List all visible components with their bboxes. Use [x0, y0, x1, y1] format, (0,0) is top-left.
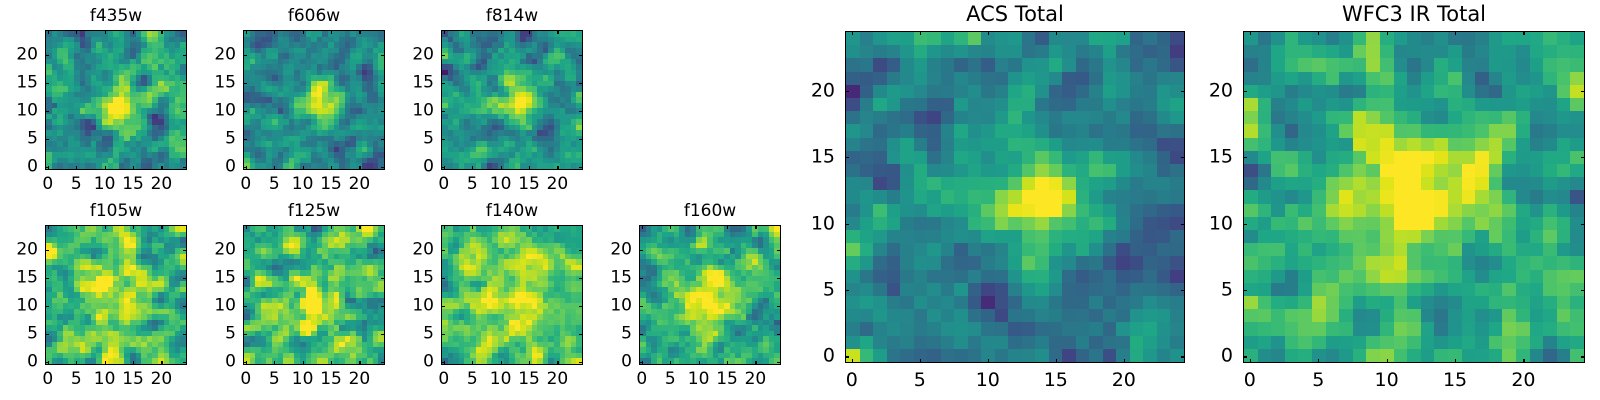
y-tick	[639, 334, 643, 335]
x-tick	[105, 166, 106, 170]
x-tick	[444, 225, 445, 229]
panel-title: f435w	[45, 8, 187, 25]
x-tick-label: 20	[547, 176, 569, 193]
x-tick	[755, 361, 756, 365]
x-tick	[472, 361, 473, 365]
x-tick	[303, 166, 304, 170]
y-tick	[1243, 290, 1247, 291]
y-tick	[381, 334, 385, 335]
x-tick	[331, 166, 332, 170]
y-tick-label: 5	[225, 326, 236, 343]
y-tick	[441, 83, 445, 84]
x-tick	[105, 225, 106, 229]
x-tick	[988, 31, 989, 35]
x-tick-label: 10	[490, 176, 512, 193]
x-tick-label: 5	[1312, 371, 1324, 390]
x-tick	[133, 30, 134, 34]
y-tick	[777, 334, 781, 335]
x-tick	[359, 166, 360, 170]
x-tick	[133, 166, 134, 170]
y-tick	[441, 111, 445, 112]
y-tick-label: 20	[412, 242, 434, 259]
x-tick	[642, 225, 643, 229]
y-tick	[183, 306, 187, 307]
panel-title: f125w	[243, 203, 385, 220]
heatmap-image	[1243, 31, 1585, 363]
y-tick	[243, 334, 247, 335]
x-tick	[529, 361, 530, 365]
x-tick-label: 10	[94, 371, 116, 388]
x-tick	[472, 166, 473, 170]
y-tick-label: 0	[1221, 347, 1233, 366]
x-tick	[670, 225, 671, 229]
x-tick	[76, 30, 77, 34]
x-tick-label: 0	[1244, 371, 1256, 390]
y-tick	[1181, 356, 1185, 357]
panel-f105w: f105w0055101015152020	[45, 225, 187, 365]
x-tick	[1056, 359, 1057, 363]
x-tick	[331, 225, 332, 229]
x-tick	[161, 361, 162, 365]
y-tick-label: 5	[621, 326, 632, 343]
x-tick	[920, 359, 921, 363]
y-tick	[45, 167, 49, 168]
x-tick-label: 10	[490, 371, 512, 388]
y-tick	[45, 250, 49, 251]
y-tick	[579, 83, 583, 84]
y-tick	[579, 278, 583, 279]
x-tick	[501, 166, 502, 170]
y-tick-label: 10	[1209, 214, 1233, 233]
y-tick	[1243, 224, 1247, 225]
y-tick	[777, 306, 781, 307]
heatmap-image	[441, 30, 583, 170]
panel-f140w: f140w0055101015152020	[441, 225, 583, 365]
x-tick	[852, 31, 853, 35]
x-tick-label: 0	[240, 176, 251, 193]
x-tick	[161, 166, 162, 170]
y-tick	[1581, 290, 1585, 291]
x-tick	[988, 359, 989, 363]
y-tick-label: 20	[16, 47, 38, 64]
y-tick	[243, 111, 247, 112]
x-tick-label: 15	[518, 371, 540, 388]
y-tick	[1581, 224, 1585, 225]
panel-f435w: f435w0055101015152020	[45, 30, 187, 170]
y-tick	[381, 55, 385, 56]
x-tick	[76, 361, 77, 365]
x-tick	[359, 30, 360, 34]
y-tick-label: 20	[811, 81, 835, 100]
y-tick	[777, 362, 781, 363]
x-tick-label: 20	[1511, 371, 1535, 390]
x-tick-label: 5	[269, 176, 280, 193]
x-tick	[161, 225, 162, 229]
x-tick	[105, 361, 106, 365]
x-tick	[472, 30, 473, 34]
y-tick	[845, 224, 849, 225]
y-tick-label: 20	[214, 47, 236, 64]
y-tick	[1181, 224, 1185, 225]
y-tick	[441, 167, 445, 168]
panel-f125w: f125w0055101015152020	[243, 225, 385, 365]
x-tick-label: 10	[1375, 371, 1399, 390]
x-tick	[1124, 31, 1125, 35]
x-tick	[274, 361, 275, 365]
y-tick-label: 15	[412, 270, 434, 287]
x-tick-label: 0	[42, 176, 53, 193]
y-tick-label: 15	[412, 75, 434, 92]
x-tick	[76, 166, 77, 170]
heatmap-image	[441, 225, 583, 365]
x-tick	[331, 361, 332, 365]
panel-title: f606w	[243, 8, 385, 25]
y-tick	[243, 139, 247, 140]
y-tick	[845, 157, 849, 158]
x-tick	[920, 31, 921, 35]
y-tick	[381, 139, 385, 140]
y-tick-label: 10	[214, 298, 236, 315]
x-tick-label: 10	[292, 371, 314, 388]
x-tick	[1318, 359, 1319, 363]
y-tick	[639, 250, 643, 251]
x-tick-label: 5	[71, 371, 82, 388]
y-tick	[45, 55, 49, 56]
y-tick-label: 5	[27, 131, 38, 148]
x-tick	[1056, 31, 1057, 35]
x-tick-label: 5	[269, 371, 280, 388]
x-tick-label: 0	[42, 371, 53, 388]
x-tick	[1387, 359, 1388, 363]
x-tick	[1455, 31, 1456, 35]
x-tick	[529, 166, 530, 170]
y-tick-label: 20	[16, 242, 38, 259]
heatmap-image	[243, 225, 385, 365]
y-tick-label: 5	[423, 131, 434, 148]
panel-f814w: f814w0055101015152020	[441, 30, 583, 170]
y-tick	[1581, 356, 1585, 357]
y-tick	[441, 362, 445, 363]
x-tick	[303, 361, 304, 365]
y-tick-label: 0	[225, 354, 236, 371]
y-tick	[579, 111, 583, 112]
x-tick	[274, 166, 275, 170]
x-tick	[529, 30, 530, 34]
y-tick	[441, 55, 445, 56]
x-tick-label: 15	[716, 371, 738, 388]
x-tick-label: 15	[122, 371, 144, 388]
heatmap-image	[45, 30, 187, 170]
x-tick-label: 15	[1044, 371, 1068, 390]
x-tick	[274, 30, 275, 34]
y-tick	[1243, 157, 1247, 158]
y-tick	[243, 55, 247, 56]
y-tick	[183, 83, 187, 84]
y-tick	[441, 139, 445, 140]
x-tick	[1387, 31, 1388, 35]
y-tick	[243, 83, 247, 84]
x-tick	[303, 225, 304, 229]
x-tick-label: 15	[320, 176, 342, 193]
y-tick-label: 0	[621, 354, 632, 371]
y-tick-label: 10	[412, 298, 434, 315]
panel-acs-total: ACS Total0055101015152020	[845, 31, 1185, 363]
x-tick	[1250, 31, 1251, 35]
x-tick	[501, 361, 502, 365]
x-tick	[727, 361, 728, 365]
x-tick	[501, 225, 502, 229]
y-tick	[1181, 290, 1185, 291]
x-tick-label: 20	[547, 371, 569, 388]
y-tick	[1181, 91, 1185, 92]
y-tick	[639, 306, 643, 307]
y-tick-label: 15	[214, 270, 236, 287]
x-tick-label: 10	[976, 371, 1000, 390]
panel-f160w: f160w0055101015152020	[639, 225, 781, 365]
x-tick	[105, 30, 106, 34]
y-tick-label: 10	[811, 214, 835, 233]
y-tick	[45, 278, 49, 279]
y-tick	[183, 278, 187, 279]
heatmap-image	[243, 30, 385, 170]
y-tick	[845, 290, 849, 291]
x-tick-label: 15	[1443, 371, 1467, 390]
x-tick-label: 5	[467, 371, 478, 388]
y-tick	[45, 362, 49, 363]
y-tick-label: 0	[27, 354, 38, 371]
x-tick-label: 0	[240, 371, 251, 388]
y-tick-label: 0	[423, 159, 434, 176]
y-tick	[579, 306, 583, 307]
x-tick	[755, 225, 756, 229]
y-tick	[183, 167, 187, 168]
y-tick-label: 15	[811, 148, 835, 167]
y-tick	[1581, 157, 1585, 158]
y-tick	[183, 250, 187, 251]
y-tick-label: 5	[27, 326, 38, 343]
x-tick-label: 15	[320, 371, 342, 388]
x-tick	[1455, 359, 1456, 363]
y-tick	[243, 278, 247, 279]
y-tick-label: 15	[214, 75, 236, 92]
y-tick	[45, 306, 49, 307]
y-tick-label: 15	[1209, 148, 1233, 167]
x-tick	[557, 225, 558, 229]
y-tick	[243, 167, 247, 168]
y-tick	[183, 334, 187, 335]
x-tick-label: 15	[518, 176, 540, 193]
y-tick	[639, 362, 643, 363]
x-tick-label: 15	[122, 176, 144, 193]
y-tick-label: 10	[16, 103, 38, 120]
y-tick-label: 5	[423, 326, 434, 343]
x-tick-label: 5	[71, 176, 82, 193]
y-tick	[579, 55, 583, 56]
x-tick	[557, 166, 558, 170]
x-tick-label: 5	[467, 176, 478, 193]
y-tick	[579, 334, 583, 335]
panel-title: ACS Total	[845, 4, 1185, 25]
y-tick	[441, 278, 445, 279]
y-tick-label: 10	[610, 298, 632, 315]
y-tick	[777, 278, 781, 279]
y-tick-label: 15	[610, 270, 632, 287]
y-tick	[381, 278, 385, 279]
x-tick	[133, 361, 134, 365]
x-tick	[48, 225, 49, 229]
x-tick-label: 0	[438, 371, 449, 388]
x-tick	[331, 30, 332, 34]
x-tick	[699, 361, 700, 365]
x-tick-label: 0	[438, 176, 449, 193]
x-tick-label: 0	[636, 371, 647, 388]
y-tick	[579, 250, 583, 251]
y-tick	[1581, 91, 1585, 92]
y-tick-label: 20	[214, 242, 236, 259]
y-tick	[183, 362, 187, 363]
y-tick	[183, 111, 187, 112]
y-tick	[441, 334, 445, 335]
x-tick	[359, 225, 360, 229]
x-tick-label: 5	[665, 371, 676, 388]
y-tick	[441, 250, 445, 251]
x-tick	[557, 361, 558, 365]
x-tick	[133, 225, 134, 229]
y-tick	[1181, 157, 1185, 158]
x-tick-label: 5	[914, 371, 926, 390]
y-tick	[381, 306, 385, 307]
x-tick-label: 20	[349, 371, 371, 388]
x-tick-label: 10	[94, 176, 116, 193]
y-tick	[845, 91, 849, 92]
y-tick	[441, 306, 445, 307]
y-tick	[639, 278, 643, 279]
y-tick-label: 20	[610, 242, 632, 259]
y-tick	[45, 83, 49, 84]
x-tick	[246, 30, 247, 34]
y-tick	[777, 250, 781, 251]
y-tick-label: 0	[225, 159, 236, 176]
y-tick-label: 10	[214, 103, 236, 120]
x-tick	[1318, 31, 1319, 35]
x-tick	[472, 225, 473, 229]
y-tick-label: 5	[225, 131, 236, 148]
y-tick	[845, 356, 849, 357]
x-tick-label: 20	[151, 176, 173, 193]
x-tick	[444, 30, 445, 34]
x-tick-label: 20	[1112, 371, 1136, 390]
y-tick	[579, 139, 583, 140]
x-tick	[1250, 359, 1251, 363]
y-tick	[45, 334, 49, 335]
panel-title: f140w	[441, 203, 583, 220]
x-tick	[557, 30, 558, 34]
panel-wfc3-ir-total: WFC3 IR Total0055101015152020	[1243, 31, 1585, 363]
panel-title: WFC3 IR Total	[1243, 4, 1585, 25]
x-tick	[727, 225, 728, 229]
x-tick	[501, 30, 502, 34]
y-tick-label: 15	[16, 75, 38, 92]
x-tick	[529, 225, 530, 229]
x-tick	[1523, 359, 1524, 363]
x-tick	[699, 225, 700, 229]
x-tick	[48, 30, 49, 34]
x-tick-label: 20	[151, 371, 173, 388]
y-tick	[381, 362, 385, 363]
y-tick	[243, 362, 247, 363]
x-tick	[161, 30, 162, 34]
x-tick	[1523, 31, 1524, 35]
y-tick-label: 20	[412, 47, 434, 64]
x-tick-label: 10	[688, 371, 710, 388]
y-tick	[183, 55, 187, 56]
y-tick-label: 5	[1221, 280, 1233, 299]
y-tick	[45, 139, 49, 140]
y-tick	[45, 111, 49, 112]
x-tick-label: 20	[349, 176, 371, 193]
y-tick-label: 15	[16, 270, 38, 287]
heatmap-image	[45, 225, 187, 365]
y-tick	[243, 306, 247, 307]
x-tick-label: 10	[292, 176, 314, 193]
x-tick	[76, 225, 77, 229]
y-tick	[243, 250, 247, 251]
y-tick-label: 10	[412, 103, 434, 120]
y-tick	[1243, 91, 1247, 92]
panel-title: f160w	[639, 203, 781, 220]
x-tick	[670, 361, 671, 365]
x-tick-label: 0	[846, 371, 858, 390]
y-tick	[183, 139, 187, 140]
x-tick	[852, 359, 853, 363]
y-tick	[579, 362, 583, 363]
heatmap-image	[639, 225, 781, 365]
heatmap-image	[845, 31, 1185, 363]
panel-title: f814w	[441, 8, 583, 25]
y-tick-label: 5	[823, 280, 835, 299]
x-tick	[274, 225, 275, 229]
x-tick	[303, 30, 304, 34]
panel-f606w: f606w0055101015152020	[243, 30, 385, 170]
y-tick-label: 0	[823, 347, 835, 366]
y-tick	[1243, 356, 1247, 357]
y-tick-label: 10	[16, 298, 38, 315]
x-tick	[1124, 359, 1125, 363]
panel-title: f105w	[45, 203, 187, 220]
x-tick-label: 20	[745, 371, 767, 388]
y-tick-label: 20	[1209, 81, 1233, 100]
y-tick-label: 0	[423, 354, 434, 371]
y-tick-label: 0	[27, 159, 38, 176]
figure-canvas: f435w0055101015152020f606w00551010151520…	[0, 0, 1600, 400]
x-tick	[246, 225, 247, 229]
y-tick	[381, 111, 385, 112]
y-tick	[381, 167, 385, 168]
y-tick	[381, 250, 385, 251]
y-tick	[579, 167, 583, 168]
y-tick	[381, 83, 385, 84]
x-tick	[359, 361, 360, 365]
